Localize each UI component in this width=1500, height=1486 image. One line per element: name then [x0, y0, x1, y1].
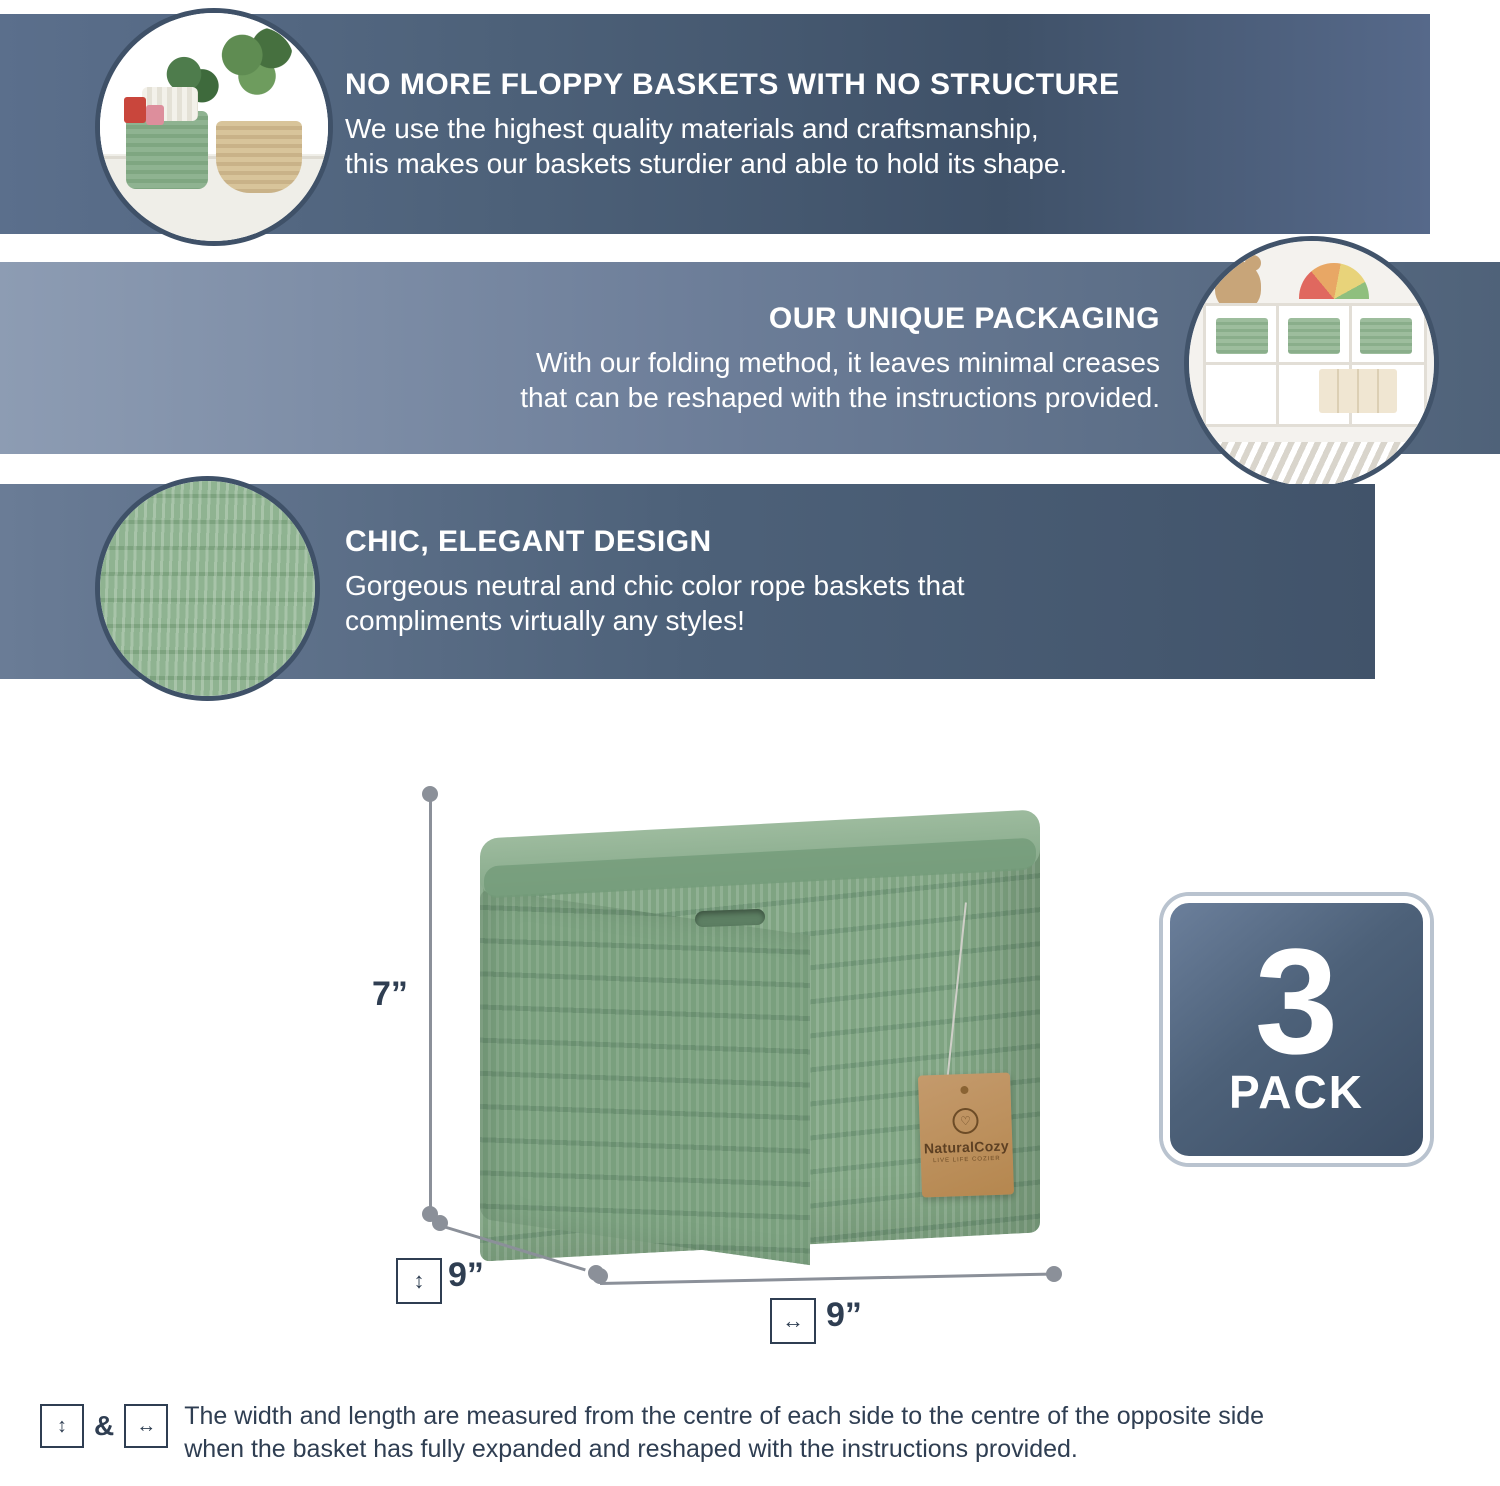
rope-basket-green: [1216, 318, 1268, 354]
brand-name: NaturalCozy: [924, 1137, 1009, 1156]
pink-item: [146, 105, 164, 125]
plant-icon: [220, 27, 294, 97]
feature-3-body-line2: compliments virtually any styles!: [345, 603, 964, 638]
striped-rug: [1189, 442, 1434, 486]
pack-count-number: 3: [1255, 940, 1338, 1063]
brand-mark-icon: ♡: [952, 1107, 979, 1134]
pack-count-badge: 3 PACK: [1163, 896, 1430, 1163]
feature-2-text: OUR UNIQUE PACKAGING With our folding me…: [10, 302, 1160, 415]
brand-tagline: LIVE LIFE COZIER: [933, 1155, 1001, 1163]
feature-2-headline: OUR UNIQUE PACKAGING: [10, 302, 1160, 335]
footer-text: The width and length are measured from t…: [184, 1400, 1264, 1465]
rope-basket-green: [1288, 318, 1340, 354]
ampersand: &: [94, 1410, 114, 1442]
hang-tag: ♡ NaturalCozy LIVE LIFE COZIER: [918, 1072, 1014, 1197]
feature-1-body-line2: this makes our baskets sturdier and able…: [345, 146, 1119, 181]
rope-storage-basket: ♡ NaturalCozy LIVE LIFE COZIER: [450, 792, 1065, 1247]
feature-1-photo: [95, 8, 333, 246]
height-guide-line: [429, 800, 432, 1210]
basket-front-panel: [480, 889, 810, 1265]
footer-note: ↕ & ↔ The width and length are measured …: [40, 1400, 1460, 1465]
basket-handle: [695, 909, 765, 927]
depth-icon: ↕: [396, 1258, 442, 1304]
height-dim-label: 7”: [372, 975, 408, 1014]
feature-1-body-line1: We use the highest quality materials and…: [345, 111, 1119, 146]
shelf-divider: [1276, 306, 1279, 424]
feature-3-text: CHIC, ELEGANT DESIGN Gorgeous neutral an…: [345, 525, 964, 638]
shelf-divider: [1206, 362, 1424, 365]
height-icon: ↕: [40, 1404, 84, 1448]
width-icon: ↔: [124, 1404, 168, 1448]
feature-2-body-line2: that can be reshaped with the instructio…: [10, 380, 1160, 415]
depth-dim-label: 9”: [448, 1256, 484, 1295]
feature-3-photo: [95, 476, 320, 701]
rope-texture: [100, 481, 315, 696]
rope-basket-green: [1360, 318, 1412, 354]
feature-3-body-line1: Gorgeous neutral and chic color rope bas…: [345, 568, 964, 603]
pack-count-word: PACK: [1229, 1065, 1364, 1119]
feature-2-body-line1: With our folding method, it leaves minim…: [10, 345, 1160, 380]
width-icon: ↔: [770, 1298, 816, 1344]
tag-hole: [960, 1086, 968, 1094]
product-photo: ♡ NaturalCozy LIVE LIFE COZIER: [425, 760, 1085, 1280]
width-dim-label: 9”: [826, 1296, 862, 1335]
feature-1-headline: NO MORE FLOPPY BASKETS WITH NO STRUCTURE: [345, 68, 1119, 101]
woven-basket-tan: [216, 121, 302, 193]
footer-icons: ↕ & ↔: [40, 1404, 168, 1448]
feature-1-text: NO MORE FLOPPY BASKETS WITH NO STRUCTURE…: [345, 68, 1119, 181]
wooden-blocks: [1319, 369, 1397, 413]
feature-3-headline: CHIC, ELEGANT DESIGN: [345, 525, 964, 558]
red-book: [124, 97, 146, 123]
feature-2-photo: [1184, 236, 1439, 491]
footer-line1: The width and length are measured from t…: [184, 1400, 1264, 1433]
footer-line2: when the basket has fully expanded and r…: [184, 1433, 1264, 1466]
